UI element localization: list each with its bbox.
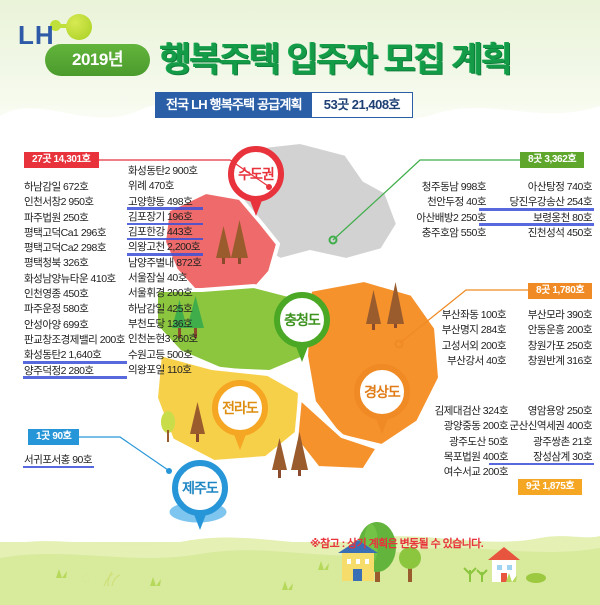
list-item: 충주호암 550호 bbox=[396, 226, 486, 241]
region-list-jeolla-col2: 영암용앙 250호군산신역세권 400호광주쌍촌 21호장성삼계 30호 bbox=[490, 404, 592, 465]
list-item: 안동운흥 200호 bbox=[504, 323, 592, 338]
region-list-jeju-col1: 서귀포서홍 90호 bbox=[24, 453, 92, 468]
region-list-chungcheong-col1: 청주동남 998호천안두정 40호아산배방2 250호충주호암 550호 bbox=[396, 180, 486, 241]
list-item: 수원고등 500호 bbox=[128, 348, 201, 363]
list-item: 화성동탄2 1,640호 bbox=[24, 348, 125, 363]
list-item: 김포한강 443호 bbox=[128, 225, 201, 240]
list-item: 인천논현3 260호 bbox=[128, 332, 201, 347]
region-list-chungcheong-col2: 아산탕정 740호당진우강송산 254호보령옹천 80호진천성석 450호 bbox=[480, 180, 592, 241]
list-item: 창원가포 250호 bbox=[504, 339, 592, 354]
region-badge-jeju: 1곳 90호 bbox=[28, 429, 79, 445]
list-item: 파주운정 580호 bbox=[24, 302, 125, 317]
year-badge: 2019년 bbox=[45, 44, 150, 76]
map-pin-label-jeju: 제주도 bbox=[172, 460, 228, 516]
list-item: 청주동남 998호 bbox=[396, 180, 486, 195]
list-item: 화성남양뉴타운 410호 bbox=[24, 272, 125, 287]
list-item: 김포장기 196호 bbox=[128, 210, 201, 225]
supply-summary-label: 전국 LH 행복주택 공급계획 bbox=[156, 93, 312, 117]
list-item: 진천성석 450호 bbox=[480, 226, 592, 241]
list-item: 군산신역세권 400호 bbox=[490, 419, 592, 434]
lh-logo: LH bbox=[10, 8, 106, 48]
supply-summary-value: 53곳 21,408호 bbox=[312, 93, 412, 117]
list-item: 평택청북 326호 bbox=[24, 256, 125, 271]
map-pin-label-chungcheong: 충청도 bbox=[274, 292, 330, 348]
region-list-gyeongsang-col2: 부산모라 390호안동운흥 200호창원가포 250호창원반계 316호 bbox=[504, 308, 592, 369]
supply-summary-bar: 전국 LH 행복주택 공급계획 53곳 21,408호 bbox=[155, 92, 413, 118]
region-badge-chungcheong: 8곳 3,362호 bbox=[520, 152, 584, 168]
list-item: 부산모라 390호 bbox=[504, 308, 592, 323]
header: LH 2019년 행복주택 입주자 모집 계획 전국 LH 행복주택 공급계획 … bbox=[0, 0, 600, 140]
list-item: 판교창조경제밸리 200호 bbox=[24, 333, 125, 348]
list-item: 서울휘경 200호 bbox=[128, 286, 201, 301]
list-item: 부산좌동 100호 bbox=[416, 308, 506, 323]
region-list-sudogwon-col1: 하남감일 672호인천서창2 950호파주법원 250호평택고덕Ca1 296호… bbox=[24, 180, 125, 379]
list-item: 의왕포일 110호 bbox=[128, 363, 201, 378]
list-item: 평택고덕Ca1 296호 bbox=[24, 226, 125, 241]
region-badge-jeolla: 9곳 1,875호 bbox=[518, 479, 582, 495]
region-badge-sudogwon: 27곳 14,301호 bbox=[24, 152, 99, 168]
map-pin-label-gyeongsang: 경상도 bbox=[354, 364, 410, 420]
region-badge-gyeongsang: 8곳 1,780호 bbox=[528, 283, 592, 299]
footer bbox=[0, 520, 600, 605]
region-list-gyeongsang-col1: 부산좌동 100호부산명지 284호고성서외 200호부산강서 40호 bbox=[416, 308, 506, 369]
list-item: 광주쌍촌 21호 bbox=[490, 435, 592, 450]
list-item: 보령옹천 80호 bbox=[480, 211, 592, 226]
list-item: 인천영종 450호 bbox=[24, 287, 125, 302]
list-item: 서울잠실 40호 bbox=[128, 271, 201, 286]
list-item: 안성아양 699호 bbox=[24, 318, 125, 333]
list-item: 장성삼계 30호 bbox=[490, 450, 592, 465]
list-item: 부천도당 136호 bbox=[128, 317, 201, 332]
list-item: 여수서교 200호 bbox=[412, 465, 508, 480]
list-item: 부산강서 40호 bbox=[416, 354, 506, 369]
list-item: 영암용앙 250호 bbox=[490, 404, 592, 419]
list-item: 의왕고천 2,200호 bbox=[128, 240, 201, 255]
list-item: 하남감일 672호 bbox=[24, 180, 125, 195]
list-item: 하남감일 425호 bbox=[128, 302, 201, 317]
list-item: 화성동탄2 900호 bbox=[128, 164, 201, 179]
map-pin-gyeongsang[interactable]: 경상도 bbox=[354, 364, 410, 434]
list-item: 고양향동 498호 bbox=[128, 195, 201, 210]
map-pin-label-jeolla: 전라도 bbox=[212, 380, 268, 436]
list-item: 파주법원 250호 bbox=[24, 211, 125, 226]
list-item: 당진우강송산 254호 bbox=[480, 195, 592, 210]
logo-text: LH bbox=[18, 22, 55, 48]
region-list-sudogwon-col2: 화성동탄2 900호위례 470호고양향동 498호김포장기 196호김포한강 … bbox=[128, 164, 201, 378]
list-item: 평택고덕Ca2 298호 bbox=[24, 241, 125, 256]
list-item: 천안두정 40호 bbox=[396, 195, 486, 210]
list-item: 아산탕정 740호 bbox=[480, 180, 592, 195]
list-item: 고성서외 200호 bbox=[416, 339, 506, 354]
list-item: 남양주별내 872호 bbox=[128, 256, 201, 271]
infographic-root: LH 2019년 행복주택 입주자 모집 계획 전국 LH 행복주택 공급계획 … bbox=[0, 0, 600, 605]
list-item: 인천서창2 950호 bbox=[24, 195, 125, 210]
map-pin-chungcheong[interactable]: 충청도 bbox=[274, 292, 330, 362]
map-pin-sudogwon[interactable]: 수도권 bbox=[228, 146, 284, 216]
logo-big-dot-icon bbox=[66, 14, 92, 40]
page-title: 행복주택 입주자 모집 계획 bbox=[160, 36, 590, 84]
list-item: 부산명지 284호 bbox=[416, 323, 506, 338]
list-item: 양주덕정2 280호 bbox=[24, 364, 125, 379]
list-item: 창원반계 316호 bbox=[504, 354, 592, 369]
list-item: 위례 470호 bbox=[128, 179, 201, 194]
map-pin-label-sudogwon: 수도권 bbox=[228, 146, 284, 202]
footnote: ※참고 : 상기 계획은 변동될 수 있습니다. bbox=[310, 535, 483, 551]
footer-illustration bbox=[0, 520, 600, 605]
list-item: 아산배방2 250호 bbox=[396, 211, 486, 226]
map-pin-jeolla[interactable]: 전라도 bbox=[212, 380, 268, 450]
list-item: 서귀포서홍 90호 bbox=[24, 453, 92, 468]
